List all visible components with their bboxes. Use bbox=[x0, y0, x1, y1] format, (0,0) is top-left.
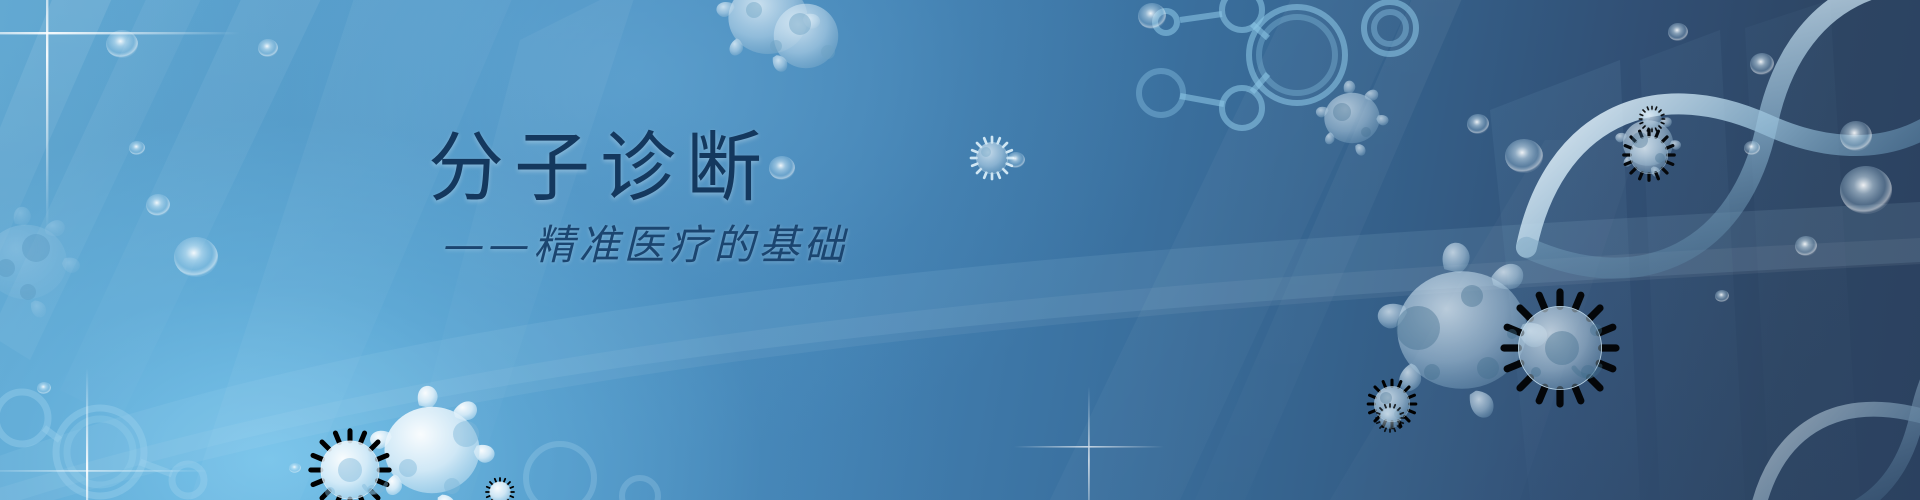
microbe-right-cluster bbox=[1378, 243, 1616, 418]
microbe-tiny-bottom bbox=[486, 478, 514, 500]
molecular-diagnostics-banner: 分子诊断 ——精准医疗的基础 bbox=[0, 0, 1920, 500]
microbe-top-center bbox=[716, 0, 849, 79]
polygon-right-frame bbox=[1490, 0, 1860, 500]
microbe-near-dna bbox=[1316, 81, 1389, 156]
dna-double-helix bbox=[1492, 0, 1920, 319]
microbe-bottom-center bbox=[311, 386, 495, 500]
banner-text-block: 分子诊断 ——精准医疗的基础 bbox=[0, 128, 1200, 268]
molecule-ring-top-right bbox=[1139, 0, 1416, 128]
light-sparkle-bottom-left bbox=[0, 368, 210, 500]
molecule-ring-bottom-center bbox=[526, 444, 658, 500]
page-subtitle: ——精准医疗的基础 bbox=[0, 223, 1200, 268]
microbe-small-right bbox=[1368, 380, 1416, 428]
light-sparkle-bottom-center bbox=[1014, 386, 1164, 500]
page-title: 分子诊断 bbox=[0, 128, 1200, 207]
dna-base-pairs bbox=[1528, 0, 1920, 300]
dna-helix-secondary bbox=[1731, 284, 1920, 500]
microbe-dna-tail bbox=[1615, 106, 1681, 180]
microbe-lower-mid bbox=[1376, 404, 1404, 432]
molecule-ring-bottom-left bbox=[0, 392, 204, 496]
